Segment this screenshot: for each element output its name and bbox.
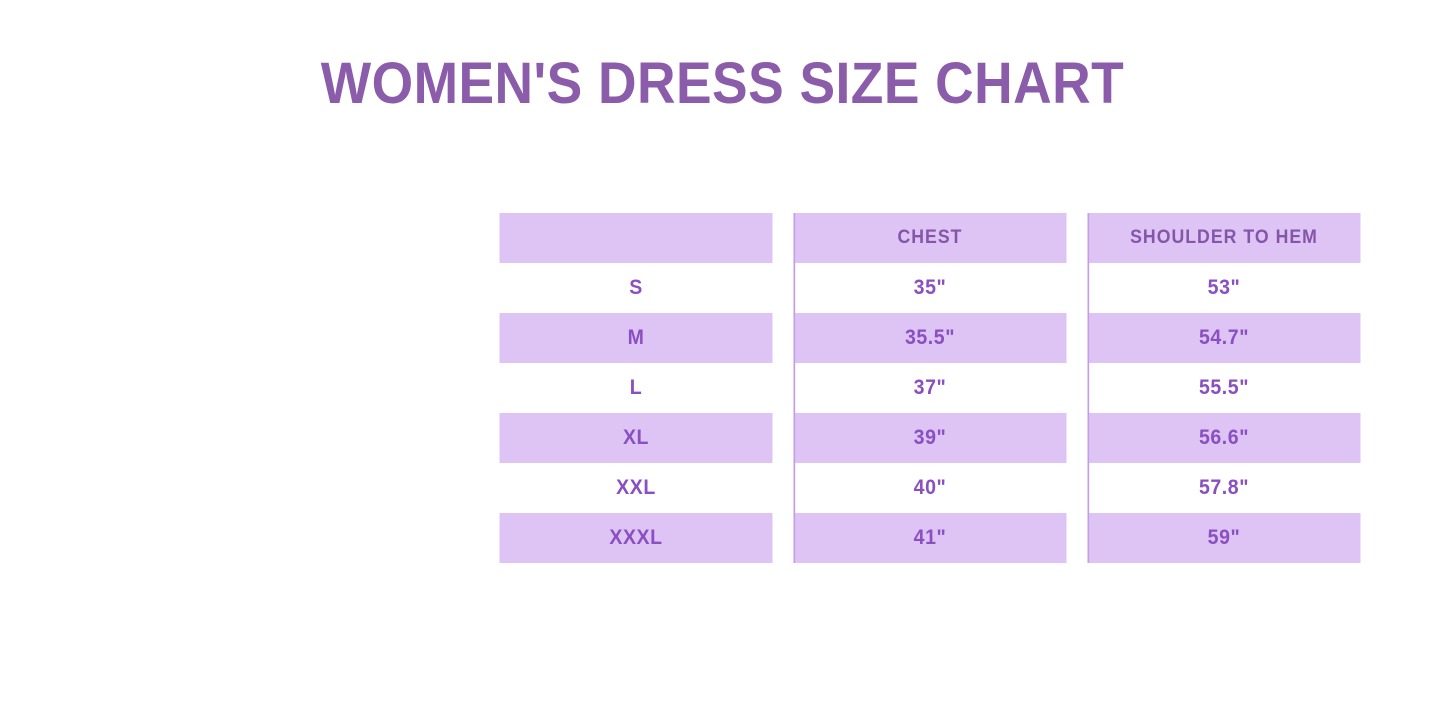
cell-shoulder-to-hem: 59" [1087,513,1360,563]
cell-chest: 40" [793,463,1066,513]
table-body: S 35" 53" M 35.5" 54.7" L 37" 55.5" XL 3… [489,263,1371,563]
cell-shoulder-to-hem: 56.6" [1087,413,1360,463]
header-row: CHEST SHOULDER TO HEM [489,213,1371,263]
cell-shoulder-to-hem: 54.7" [1087,313,1360,363]
column-header-shoulder-to-hem: SHOULDER TO HEM [1087,213,1360,263]
cell-size: XXXL [499,513,772,563]
table-row: L 37" 55.5" [489,363,1371,413]
cell-chest: 35.5" [793,313,1066,363]
table-row: XXXL 41" 59" [489,513,1371,563]
table-row: M 35.5" 54.7" [489,313,1371,363]
size-chart-page: WOMEN'S DRESS SIZE CHART CHEST SHOULDER … [0,0,1445,723]
column-header-size [499,213,772,263]
table-row: XL 39" 56.6" [489,413,1371,463]
cell-size: XXL [499,463,772,513]
column-header-chest: CHEST [793,213,1066,263]
cell-shoulder-to-hem: 55.5" [1087,363,1360,413]
table-row: XXL 40" 57.8" [489,463,1371,513]
cell-size: XL [499,413,772,463]
cell-shoulder-to-hem: 53" [1087,263,1360,313]
cell-chest: 37" [793,363,1066,413]
cell-chest: 35" [793,263,1066,313]
page-title: WOMEN'S DRESS SIZE CHART [58,52,1387,116]
size-chart-table-container: CHEST SHOULDER TO HEM S 35" 53" M 35.5" … [489,213,1371,563]
cell-size: M [499,313,772,363]
cell-chest: 41" [793,513,1066,563]
table-row: S 35" 53" [489,263,1371,313]
cell-chest: 39" [793,413,1066,463]
size-chart-table: CHEST SHOULDER TO HEM S 35" 53" M 35.5" … [489,213,1371,563]
cell-shoulder-to-hem: 57.8" [1087,463,1360,513]
cell-size: L [499,363,772,413]
table-header: CHEST SHOULDER TO HEM [489,213,1371,263]
cell-size: S [499,263,772,313]
